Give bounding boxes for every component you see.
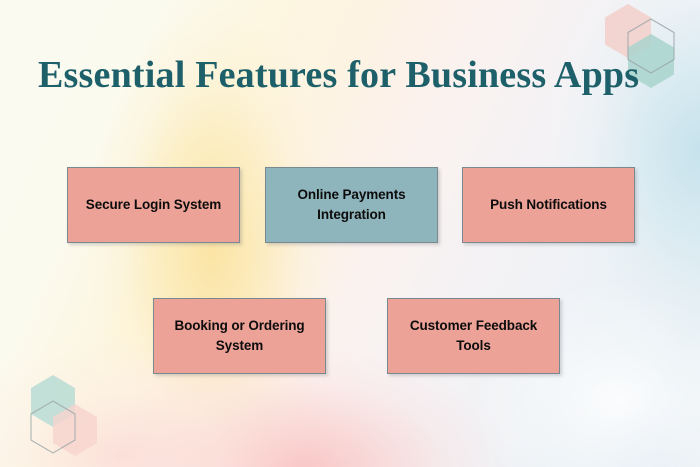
feature-card-label: Booking or Ordering System — [162, 316, 317, 356]
feature-card-secure-login-system[interactable]: Secure Login System — [67, 167, 240, 243]
hexagon-outline-icon — [31, 401, 75, 453]
slide-canvas: Essential Features for Business Apps Sec… — [0, 0, 700, 467]
feature-card-label: Push Notifications — [471, 195, 626, 215]
page-title: Essential Features for Business Apps — [38, 52, 639, 98]
feature-card-label: Customer Feedback Tools — [396, 316, 551, 356]
feature-card-label: Secure Login System — [76, 195, 231, 215]
feature-card-push-notifications[interactable]: Push Notifications — [462, 167, 635, 243]
feature-card-online-payments-integration[interactable]: Online Payments Integration — [265, 167, 438, 243]
hexagon-pink-icon — [53, 404, 97, 456]
hexagon-cluster-bottom-left — [24, 369, 120, 465]
hexagon-teal-icon — [31, 375, 75, 427]
feature-card-label: Online Payments Integration — [274, 185, 429, 225]
feature-card-customer-feedback-tools[interactable]: Customer Feedback Tools — [387, 298, 560, 374]
hexagon-pink-icon — [605, 4, 651, 58]
feature-card-booking-or-ordering-system[interactable]: Booking or Ordering System — [153, 298, 326, 374]
hexagon-cluster-bottom-left-svg — [24, 369, 120, 465]
